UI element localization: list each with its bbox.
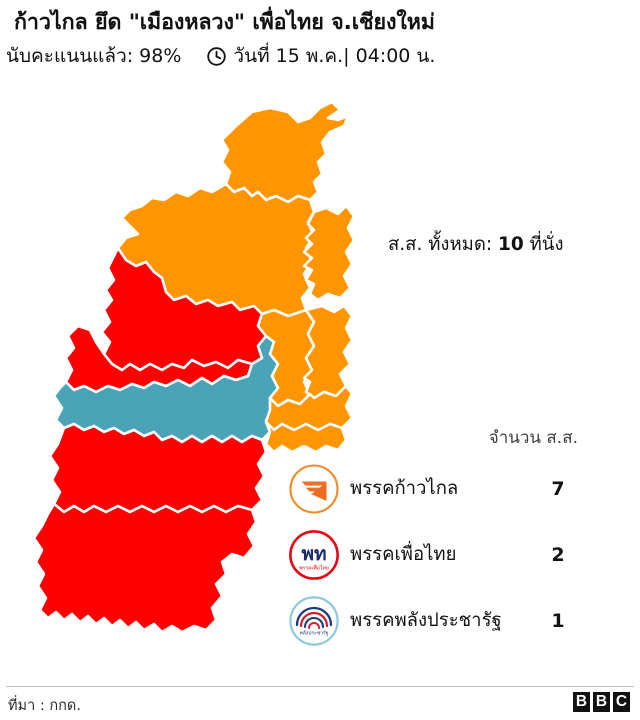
party-name: พรรคพลังประชารัฐ [350,609,538,633]
legend-row-move-forward[interactable]: พรรคก้าวไกล 7 [288,456,578,522]
legend-column-header: จำนวน ส.ส. [388,424,578,451]
palang-pracharath-party-logo: พลังประชารัฐ [288,595,340,647]
total-seats-suffix: ที่นั่ง [524,234,564,255]
party-seat-count: 7 [538,478,578,500]
clock-icon [207,47,226,66]
party-seat-count: 2 [538,544,578,566]
page-title: ก้าวไกล ยึด "เมืองหลวง" เพื่อไทย จ.เชียง… [0,0,640,38]
svg-text:พลังประชารัฐ: พลังประชารัฐ [300,631,329,637]
footer-divider [6,686,634,687]
source-attribution: ที่มา : กกด. [8,694,81,717]
total-seats-prefix: ส.ส. ทั้งหมด: [388,234,498,255]
pheu-thai-party-logo: พท พรรคเพื่อไทย [288,529,340,581]
bbc-logo-letter-1: B [573,692,590,712]
bbc-logo: B B C [573,692,630,712]
legend-row-palang-pracharath[interactable]: พลังประชารัฐ พรรคพลังประชารัฐ 1 [288,588,578,654]
party-legend: พรรคก้าวไกล 7 พท พรรคเพื่อไทย พรรคเพื่อไ… [288,456,578,654]
legend-row-pheu-thai[interactable]: พท พรรคเพื่อไทย พรรคเพื่อไทย 2 [288,522,578,588]
party-seat-count: 1 [538,610,578,632]
move-forward-party-logo [288,463,340,515]
total-seats-value: 10 [498,234,524,255]
party-name: พรรคก้าวไกล [350,477,538,501]
bbc-logo-letter-3: C [613,692,630,712]
header-status-line: นับคะแนนแล้ว: 98% วันที่ 15 พ.ค.| 04:00 … [0,38,640,68]
constituency-north-1[interactable] [222,102,348,202]
header: ก้าวไกล ยึด "เมืองหลวง" เพื่อไทย จ.เชียง… [0,0,640,68]
constituency-east-4[interactable] [266,422,346,452]
constituency-south[interactable] [34,504,256,632]
svg-text:พท: พท [301,543,326,565]
votes-counted-label: นับคะแนนแล้ว: 98% [6,44,181,68]
constituency-east-2[interactable] [304,306,352,398]
constituency-northeast[interactable] [304,206,354,300]
bbc-logo-letter-2: B [593,692,610,712]
party-name: พรรคเพื่อไทย [350,543,538,567]
total-seats-label: ส.ส. ทั้งหมด: 10 ที่นั่ง [388,230,564,259]
svg-text:พรรคเพื่อไทย: พรรคเพื่อไทย [299,564,329,572]
timestamp-label: วันที่ 15 พ.ค.| 04:00 น. [233,44,435,68]
constituency-southwest[interactable] [50,424,266,512]
